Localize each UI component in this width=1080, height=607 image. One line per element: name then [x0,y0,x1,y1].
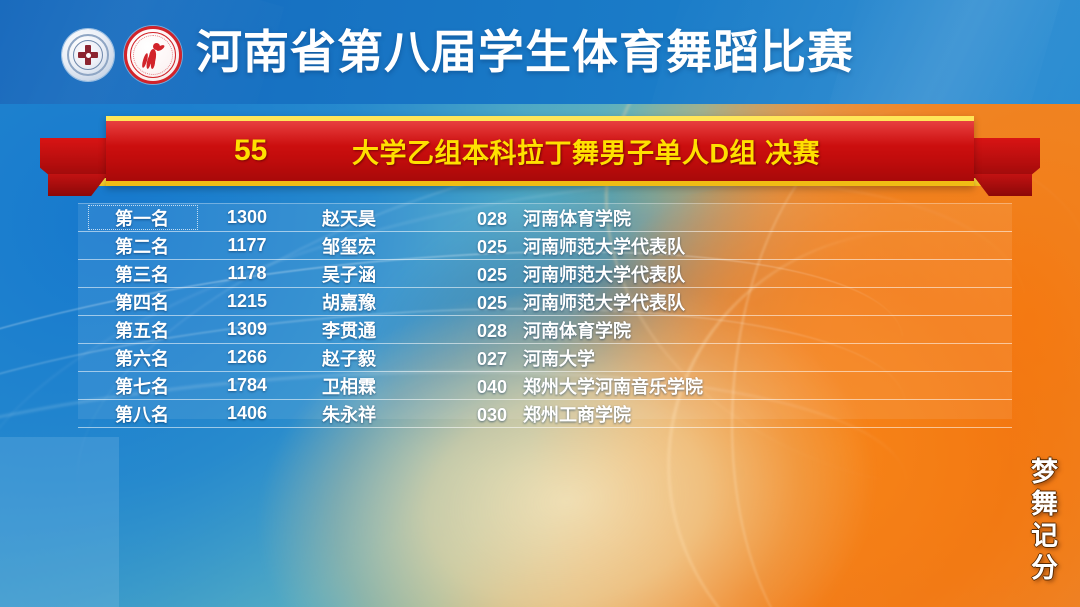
name-cell: 朱永祥 [274,401,424,427]
number-cell: 1309 [210,319,284,340]
emblem-group [62,26,182,84]
unit-cell: 028 河南体育学院 [477,317,631,343]
provincial-education-seal-icon [62,29,114,81]
watermark-label: 梦舞记分 [1023,457,1062,585]
number-cell: 1177 [210,235,284,256]
unit-name: 郑州大学河南音乐学院 [523,377,703,397]
number-cell: 1178 [210,263,284,284]
event-name-label: 大学乙组本科拉丁舞男子单人D组 决赛 [352,132,820,171]
ribbon-tip-right [972,174,1032,196]
table-row[interactable]: 第五名 1309 李贯通 028 河南体育学院 [78,316,1012,344]
rank-cell: 第五名 [88,317,196,343]
unit-code: 030 [477,405,511,426]
unit-cell: 025 河南师范大学代表队 [477,261,685,287]
name-cell: 赵天昊 [274,205,424,231]
rank-cell: 第八名 [88,401,196,427]
header-band: 河南省第八届学生体育舞蹈比赛 [0,0,1080,104]
unit-cell: 028 河南体育学院 [477,205,631,231]
rank-cell: 第四名 [88,289,196,315]
dancer-figure-icon [142,43,164,69]
rank-cell: 第一名 [88,205,196,231]
unit-name: 郑州工商学院 [523,405,631,425]
unit-cell: 025 河南师范大学代表队 [477,289,685,315]
rank-cell: 第六名 [88,345,196,371]
name-cell: 赵子毅 [274,345,424,371]
unit-cell: 040 郑州大学河南音乐学院 [477,373,703,399]
table-row[interactable]: 第三名 1178 吴子涵 025 河南师范大学代表队 [78,260,1012,288]
unit-code: 028 [477,321,511,342]
seal-cross-icon [78,45,98,65]
rank-cell: 第二名 [88,233,196,259]
name-cell: 胡嘉豫 [274,289,424,315]
number-cell: 1300 [210,207,284,228]
unit-name: 河南体育学院 [523,209,631,229]
unit-name: 河南体育学院 [523,321,631,341]
number-cell: 1406 [210,403,284,424]
rank-cell: 第三名 [88,261,196,287]
event-banner: 55 大学乙组本科拉丁舞男子单人D组 决赛 [0,104,1080,196]
unit-code: 025 [477,237,511,258]
number-cell: 1215 [210,291,284,312]
name-cell: 李贯通 [274,317,424,343]
unit-name: 河南师范大学代表队 [523,265,685,285]
unit-cell: 030 郑州工商学院 [477,401,631,427]
table-row[interactable]: 第二名 1177 邹玺宏 025 河南师范大学代表队 [78,232,1012,260]
table-row[interactable]: 第四名 1215 胡嘉豫 025 河南师范大学代表队 [78,288,1012,316]
scoreboard-screen: 河南省第八届学生体育舞蹈比赛 55 大学乙组本科拉丁舞男子单人D组 决赛 第一名… [0,0,1080,607]
unit-code: 028 [477,209,511,230]
page-title: 河南省第八届学生体育舞蹈比赛 [196,26,854,78]
table-row[interactable]: 第一名 1300 赵天昊 028 河南体育学院 [78,203,1012,232]
number-cell: 1784 [210,375,284,396]
name-cell: 吴子涵 [274,261,424,287]
dance-sport-association-emblem-icon [124,26,182,84]
unit-code: 040 [477,377,511,398]
table-row[interactable]: 第八名 1406 朱永祥 030 郑州工商学院 [78,400,1012,428]
banner-plate: 55 大学乙组本科拉丁舞男子单人D组 决赛 [106,116,974,186]
number-cell: 1266 [210,347,284,368]
unit-name: 河南师范大学代表队 [523,237,685,257]
unit-code: 025 [477,265,511,286]
unit-name: 河南大学 [523,349,595,369]
unit-code: 027 [477,349,511,370]
name-cell: 邹玺宏 [274,233,424,259]
unit-name: 河南师范大学代表队 [523,293,685,313]
rank-cell: 第七名 [88,373,196,399]
results-table: 第一名 1300 赵天昊 028 河南体育学院 第二名 1177 邹玺宏 025… [78,203,1012,419]
unit-cell: 025 河南师范大学代表队 [477,233,685,259]
table-row[interactable]: 第六名 1266 赵子毅 027 河南大学 [78,344,1012,372]
table-row[interactable]: 第七名 1784 卫相霖 040 郑州大学河南音乐学院 [78,372,1012,400]
unit-code: 025 [477,293,511,314]
name-cell: 卫相霖 [274,373,424,399]
ribbon-tip-left [48,174,108,196]
unit-cell: 027 河南大学 [477,345,595,371]
event-number: 55 [234,134,267,168]
